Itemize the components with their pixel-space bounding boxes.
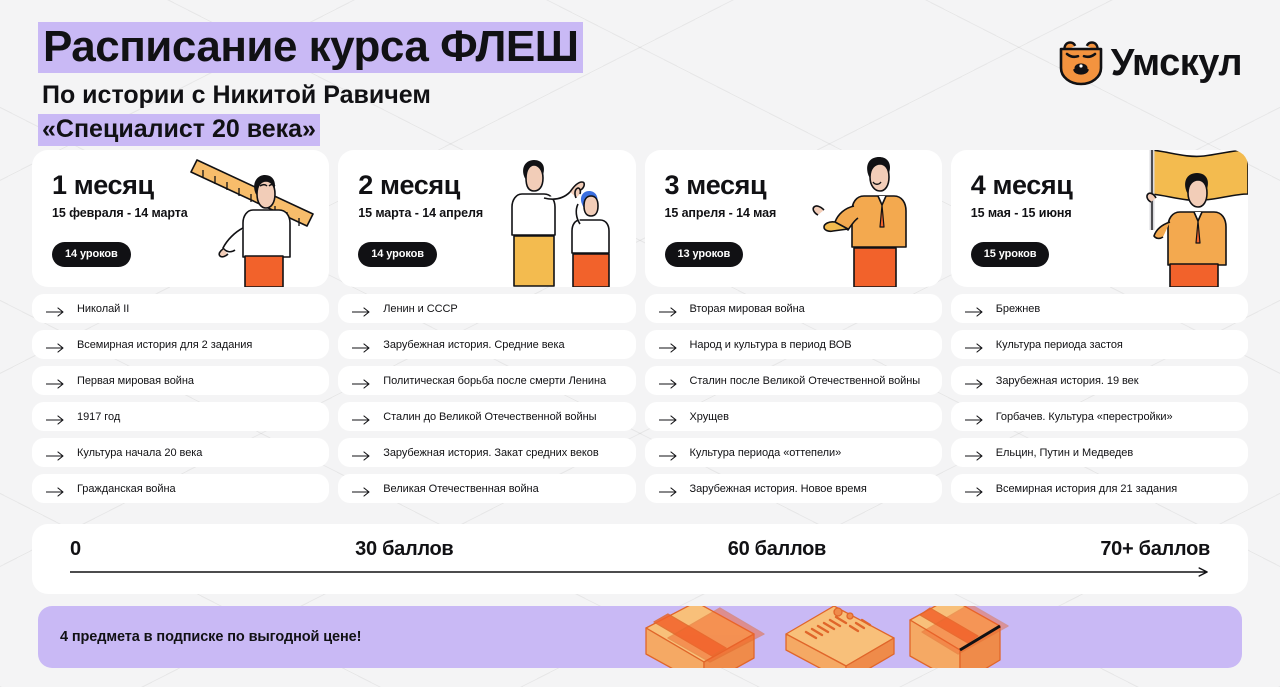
person-with-megaphone-illustration bbox=[802, 150, 942, 287]
right-arrow-icon bbox=[352, 448, 372, 458]
lesson-title: Зарубежная история. Средние века bbox=[383, 339, 564, 351]
list-item[interactable]: Всемирная история для 2 задания bbox=[32, 330, 329, 359]
lesson-title: Вторая мировая война bbox=[690, 303, 805, 315]
person-with-ruler-illustration bbox=[189, 150, 329, 287]
right-arrow-icon bbox=[352, 412, 372, 422]
score-mark-30: 30 баллов bbox=[355, 538, 453, 561]
right-arrow-icon bbox=[659, 484, 679, 494]
lesson-title: Политическая борьба после смерти Ленина bbox=[383, 375, 606, 387]
lesson-title: Брежнев bbox=[996, 303, 1040, 315]
bear-mascot-icon bbox=[1057, 40, 1105, 86]
right-arrow-icon bbox=[352, 484, 372, 494]
lessons-count-badge: 14 уроков bbox=[358, 242, 437, 267]
right-arrow-icon bbox=[659, 448, 679, 458]
right-arrow-icon bbox=[352, 340, 372, 350]
list-item[interactable]: Великая Отечественная война bbox=[338, 474, 635, 503]
list-item[interactable]: Ельцин, Путин и Медведев bbox=[951, 438, 1248, 467]
right-arrow-icon bbox=[965, 412, 985, 422]
month-column-3: 3 месяц 15 апреля - 14 мая 13 уроков bbox=[645, 150, 942, 503]
subscription-promo-banner[interactable]: 4 предмета в подписке по выгодной цене! bbox=[38, 606, 1242, 668]
lesson-title: 1917 год bbox=[77, 411, 120, 423]
right-arrow-icon bbox=[965, 376, 985, 386]
lesson-title: Гражданская война bbox=[77, 483, 176, 495]
list-item[interactable]: Сталин до Великой Отечественной войны bbox=[338, 402, 635, 431]
right-arrow-icon bbox=[659, 304, 679, 314]
lesson-title: Ельцин, Путин и Медведев bbox=[996, 447, 1133, 459]
score-scale-card: 0 30 баллов 60 баллов 70+ баллов bbox=[32, 524, 1248, 594]
lessons-count-badge: 13 уроков bbox=[665, 242, 744, 267]
schedule-poster: Расписание курса ФЛЕШ По истории с Никит… bbox=[0, 0, 1280, 687]
right-arrow-icon bbox=[659, 340, 679, 350]
logo-text: Умскул bbox=[1111, 42, 1242, 85]
right-arrow-icon bbox=[46, 304, 66, 314]
right-arrow-icon bbox=[46, 448, 66, 458]
lesson-title: Горбачев. Культура «перестройки» bbox=[996, 411, 1173, 423]
score-mark-60: 60 баллов bbox=[728, 538, 826, 561]
right-arrow-icon bbox=[46, 340, 66, 350]
right-arrow-icon bbox=[965, 484, 985, 494]
lesson-title: Великая Отечественная война bbox=[383, 483, 538, 495]
list-item[interactable]: Зарубежная история. Средние века bbox=[338, 330, 635, 359]
lessons-count-badge: 15 уроков bbox=[971, 242, 1050, 267]
lesson-title: Сталин после Великой Отечественной войны bbox=[690, 375, 921, 387]
right-arrow-icon bbox=[46, 484, 66, 494]
lesson-title: Народ и культура в период ВОВ bbox=[690, 339, 852, 351]
title-block: Расписание курса ФЛЕШ По истории с Никит… bbox=[38, 22, 583, 146]
list-item[interactable]: Культура начала 20 века bbox=[32, 438, 329, 467]
right-arrow-axis bbox=[70, 567, 1218, 581]
list-item[interactable]: Сталин после Великой Отечественной войны bbox=[645, 366, 942, 395]
right-arrow-icon bbox=[352, 376, 372, 386]
right-arrow-icon bbox=[46, 376, 66, 386]
header: Расписание курса ФЛЕШ По истории с Никит… bbox=[0, 0, 1280, 150]
right-arrow-icon bbox=[46, 412, 66, 422]
list-item[interactable]: 1917 год bbox=[32, 402, 329, 431]
lesson-title: Всемирная история для 2 задания bbox=[77, 339, 252, 351]
list-item[interactable]: Ленин и СССР bbox=[338, 294, 635, 323]
score-scale-labels: 0 30 баллов 60 баллов 70+ баллов bbox=[70, 538, 1218, 561]
subtitle-course: «Специалист 20 века» bbox=[38, 114, 320, 146]
lesson-title: Первая мировая война bbox=[77, 375, 194, 387]
list-item[interactable]: Хрущев bbox=[645, 402, 942, 431]
lesson-title: Зарубежная история. 19 век bbox=[996, 375, 1139, 387]
months-grid: 1 месяц 15 февраля - 14 марта 14 уроков bbox=[32, 150, 1248, 503]
lesson-title: Культура периода «оттепели» bbox=[690, 447, 842, 459]
lesson-title: Хрущев bbox=[690, 411, 729, 423]
lesson-title: Культура периода застоя bbox=[996, 339, 1123, 351]
right-arrow-icon bbox=[659, 376, 679, 386]
list-item[interactable]: Народ и культура в период ВОВ bbox=[645, 330, 942, 359]
right-arrow-icon bbox=[659, 412, 679, 422]
month-card-2[interactable]: 2 месяц 15 марта - 14 апреля 14 уроков bbox=[338, 150, 635, 287]
list-item[interactable]: Культура периода «оттепели» bbox=[645, 438, 942, 467]
right-arrow-icon bbox=[352, 304, 372, 314]
lesson-title: Ленин и СССР bbox=[383, 303, 457, 315]
score-mark-0: 0 bbox=[70, 538, 81, 561]
lesson-title: Зарубежная история. Новое время bbox=[690, 483, 867, 495]
month-column-2: 2 месяц 15 марта - 14 апреля 14 уроков bbox=[338, 150, 635, 503]
lesson-title: Всемирная история для 21 задания bbox=[996, 483, 1177, 495]
list-item[interactable]: Культура периода застоя bbox=[951, 330, 1248, 359]
person-with-flag-illustration bbox=[1108, 150, 1248, 287]
lesson-title: Николай II bbox=[77, 303, 129, 315]
page-title: Расписание курса ФЛЕШ bbox=[38, 22, 583, 73]
list-item[interactable]: Гражданская война bbox=[32, 474, 329, 503]
lesson-title: Культура начала 20 века bbox=[77, 447, 202, 459]
score-mark-70plus: 70+ баллов bbox=[1100, 538, 1210, 561]
list-item[interactable]: Первая мировая война bbox=[32, 366, 329, 395]
month-card-3[interactable]: 3 месяц 15 апреля - 14 мая 13 уроков bbox=[645, 150, 942, 287]
list-item[interactable]: Горбачев. Культура «перестройки» bbox=[951, 402, 1248, 431]
lessons-count-badge: 14 уроков bbox=[52, 242, 131, 267]
month-column-4: 4 месяц 15 мая - 15 июня 15 уроков bbox=[951, 150, 1248, 503]
lesson-title: Сталин до Великой Отечественной войны bbox=[383, 411, 596, 423]
promo-text: 4 предмета в подписке по выгодной цене! bbox=[38, 629, 361, 645]
list-item[interactable]: Политическая борьба после смерти Ленина bbox=[338, 366, 635, 395]
list-item[interactable]: Зарубежная история. Закат средних веков bbox=[338, 438, 635, 467]
list-item[interactable]: Николай II bbox=[32, 294, 329, 323]
month-card-4[interactable]: 4 месяц 15 мая - 15 июня 15 уроков bbox=[951, 150, 1248, 287]
orange-parcel-boxes-illustration bbox=[638, 606, 1058, 668]
brand-logo: Умскул bbox=[1057, 40, 1242, 86]
list-item[interactable]: Вторая мировая война bbox=[645, 294, 942, 323]
right-arrow-icon bbox=[965, 448, 985, 458]
two-people-high-five-illustration bbox=[496, 150, 636, 287]
month-column-1: 1 месяц 15 февраля - 14 марта 14 уроков bbox=[32, 150, 329, 503]
subtitle-teacher: По истории с Никитой Равичем bbox=[38, 80, 435, 111]
right-arrow-icon bbox=[965, 340, 985, 350]
list-item[interactable]: Брежнев bbox=[951, 294, 1248, 323]
list-item[interactable]: Всемирная история для 21 задания bbox=[951, 474, 1248, 503]
list-item[interactable]: Зарубежная история. 19 век bbox=[951, 366, 1248, 395]
list-item[interactable]: Зарубежная история. Новое время bbox=[645, 474, 942, 503]
month-card-1[interactable]: 1 месяц 15 февраля - 14 марта 14 уроков bbox=[32, 150, 329, 287]
lesson-title: Зарубежная история. Закат средних веков bbox=[383, 447, 598, 459]
right-arrow-icon bbox=[965, 304, 985, 314]
